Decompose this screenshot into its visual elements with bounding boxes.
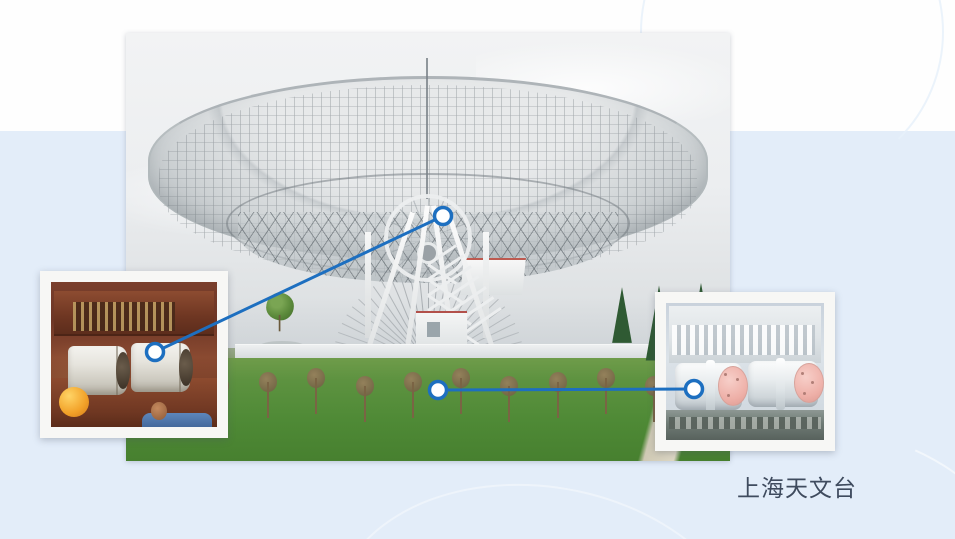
sapling bbox=[597, 368, 615, 414]
inset-photo-content bbox=[51, 282, 217, 427]
rusted-drive-assembly-photo[interactable] bbox=[40, 271, 228, 438]
housing-fins bbox=[672, 325, 814, 355]
sapling-trunk bbox=[605, 378, 607, 414]
pink-end-cap bbox=[718, 366, 748, 406]
pink-end-cap bbox=[794, 363, 824, 403]
gear-rack-slots bbox=[73, 302, 176, 331]
safety-helmet bbox=[59, 387, 89, 417]
sapling bbox=[500, 376, 518, 422]
cap-bolt bbox=[736, 378, 739, 381]
yoke-arm bbox=[365, 232, 371, 339]
sapling-trunk bbox=[364, 386, 366, 422]
sapling-trunk bbox=[267, 382, 269, 418]
drive-flange bbox=[706, 360, 715, 412]
drive-unit bbox=[748, 361, 818, 408]
sapling bbox=[404, 372, 422, 418]
sapling bbox=[307, 368, 325, 414]
sapling bbox=[356, 376, 374, 422]
sapling bbox=[549, 372, 567, 418]
subreflector-mast bbox=[426, 58, 428, 199]
equipment-hut-window bbox=[427, 322, 440, 337]
sapling bbox=[452, 368, 470, 414]
refurbished-drive-assembly-photo[interactable] bbox=[655, 292, 835, 451]
sapling-trunk bbox=[315, 378, 317, 414]
sapling-trunk bbox=[412, 382, 414, 418]
slide-canvas: 上海天文台 bbox=[0, 0, 955, 539]
cap-bolt bbox=[801, 372, 804, 375]
sapling-trunk bbox=[508, 386, 510, 422]
sapling bbox=[259, 372, 277, 418]
cap-bolt bbox=[811, 381, 814, 384]
tree-trunk bbox=[279, 315, 281, 331]
cap-bolt bbox=[803, 392, 806, 395]
photo-caption: 上海天文台 bbox=[737, 469, 857, 503]
cap-bolt bbox=[727, 394, 730, 397]
conifer-tree bbox=[613, 287, 633, 343]
sapling-trunk bbox=[557, 382, 559, 418]
inset-photo-content bbox=[666, 303, 824, 440]
sapling-trunk bbox=[460, 378, 462, 414]
drive-unit bbox=[675, 363, 741, 410]
base-bolt-row bbox=[669, 417, 821, 429]
broadleaf-tree bbox=[266, 293, 294, 332]
equipment-hut bbox=[416, 311, 467, 347]
drive-flange bbox=[776, 358, 785, 410]
cap-bolt bbox=[724, 373, 727, 376]
actuator-cylinder bbox=[131, 343, 191, 392]
worker-head bbox=[151, 402, 167, 420]
